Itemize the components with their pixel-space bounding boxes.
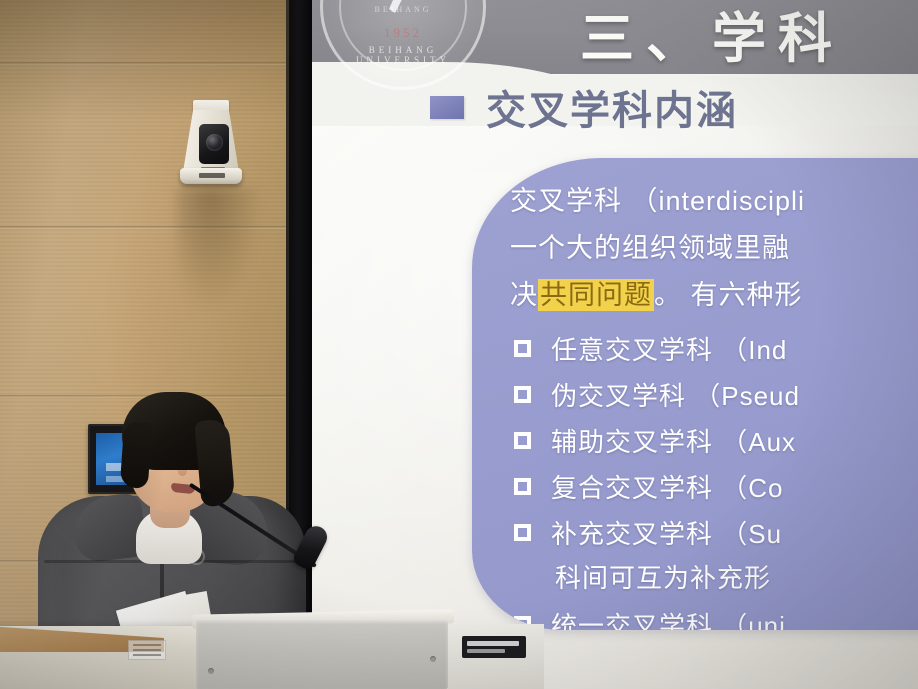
seal-name-en: BEIHANG UNIVERSITY — [323, 45, 483, 65]
list-item-label: 任意交叉学科 （Ind — [551, 330, 787, 367]
podium-label-plate — [128, 640, 166, 660]
hollow-square-bullet-icon — [514, 340, 531, 357]
list-item-label: 复合交叉学科 （Co — [551, 468, 783, 505]
hollow-square-bullet-icon — [514, 432, 531, 449]
plate-line — [133, 644, 161, 646]
slide-content-inner: 交叉学科 （interdiscipli 一个大的组织领域里融 决共同问题。 有六… — [510, 178, 918, 630]
list-item-label: 辅助交叉学科 （Aux — [551, 422, 796, 459]
paragraph-line-1-text: 交叉学科 （interdiscipli — [510, 186, 805, 216]
seal-year: 1952 — [323, 25, 483, 41]
wall-top-shadow — [0, 0, 292, 120]
plate-line — [133, 649, 161, 651]
slide-subtitle-row: 交叉学科内涵 — [430, 78, 738, 136]
slide-title: 三、学科 — [580, 0, 844, 73]
hollow-square-bullet-icon — [514, 386, 531, 403]
badge-line — [467, 641, 519, 646]
podium-brand-badge — [462, 636, 526, 658]
camera-head — [199, 124, 229, 164]
paragraph-line-3-suffix: 。 有六种形 — [654, 280, 803, 310]
list-item-label: 统一交叉学科 （uni — [551, 606, 786, 631]
list-item: 统一交叉学科 （uni — [510, 601, 918, 630]
hair-side-strand — [120, 421, 153, 489]
list-item: 复合交叉学科 （Co — [510, 463, 918, 509]
list-item: 补充交叉学科 （Su — [510, 509, 918, 555]
paragraph-line-3: 决共同问题。 有六种形 — [510, 272, 918, 319]
list-item: 辅助交叉学科 （Aux — [510, 417, 918, 463]
list-item-label: 伪交叉学科 （Pseud — [551, 376, 800, 413]
podium-screw — [208, 668, 214, 674]
paragraph-line-1: 交叉学科 （interdiscipli — [510, 178, 918, 225]
camera-lens-icon — [206, 134, 223, 151]
slide-subtitle: 交叉学科内涵 — [486, 78, 738, 136]
paragraph-line-2: 一个大的组织领域里融 — [510, 225, 918, 272]
list-item: 伪交叉学科 （Pseud — [510, 371, 918, 417]
list-item: 任意交叉学科 （Ind — [510, 325, 918, 371]
paragraph-line-2-text: 一个大的组织领域里融 — [510, 233, 790, 263]
square-bullet-icon — [430, 96, 464, 119]
lecture-hall-photo: BEIHANG 1952 BEIHANG UNIVERSITY 三、学科 交叉学… — [0, 0, 918, 689]
bullet-list: 任意交叉学科 （Ind 伪交叉学科 （Pseud 辅助交叉学科 （Aux 复合交… — [510, 325, 918, 630]
projection-screen: BEIHANG 1952 BEIHANG UNIVERSITY 三、学科 交叉学… — [312, 0, 918, 689]
camera-badge — [199, 173, 225, 178]
highlighted-phrase: 共同问题 — [538, 279, 654, 311]
list-item-label: 补充交叉学科 （Su — [551, 514, 782, 551]
plate-line — [133, 654, 161, 656]
list-item-continuation: 科间可互为补充形 — [510, 555, 918, 601]
podium-front-panel — [196, 620, 448, 689]
camera-cast-shadow — [176, 188, 262, 308]
camera-body — [183, 110, 239, 172]
badge-line — [467, 649, 505, 653]
slide-content-box: 交叉学科 （interdiscipli 一个大的组织领域里融 决共同问题。 有六… — [472, 158, 918, 630]
hollow-square-bullet-icon — [514, 524, 531, 541]
hollow-square-bullet-icon — [514, 478, 531, 495]
ptz-camera — [180, 100, 242, 190]
paragraph-line-3-prefix: 决 — [510, 280, 538, 310]
podium-screw — [430, 656, 436, 662]
seal-top-text: BEIHANG — [323, 5, 483, 14]
